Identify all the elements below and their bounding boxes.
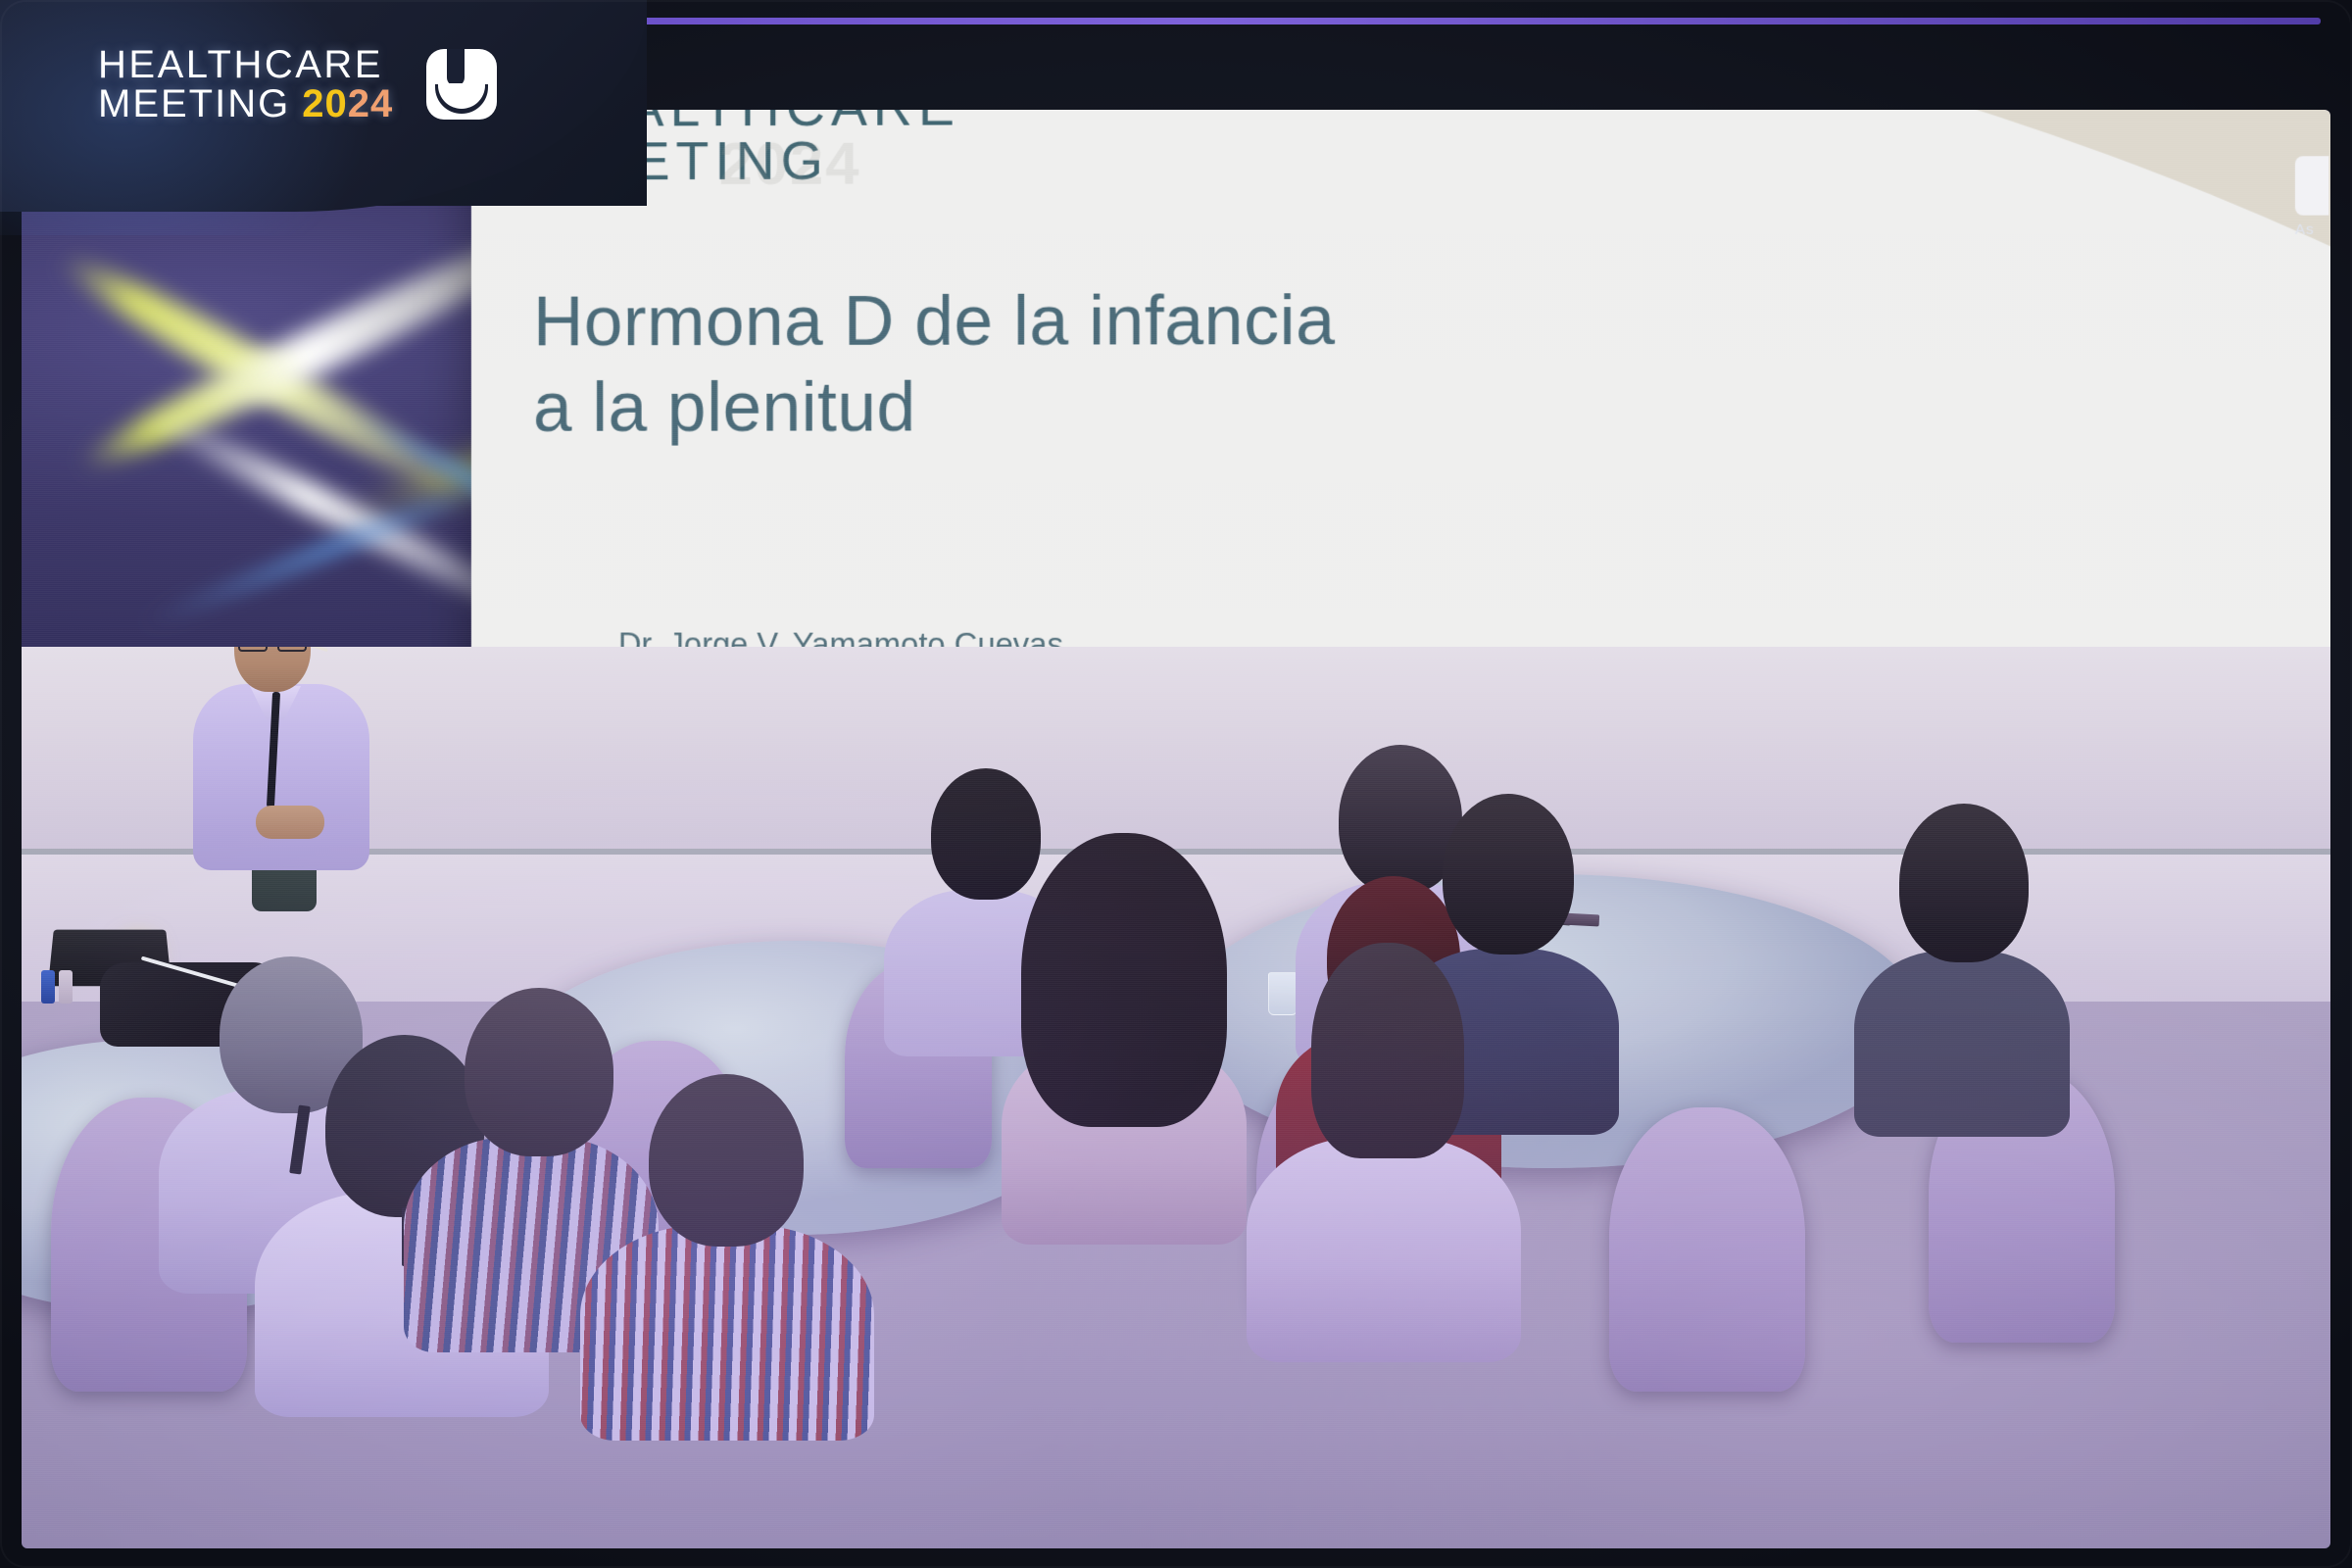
banner-year-first: 20 [302, 82, 348, 125]
banner-line2-word: MEETING [98, 84, 290, 123]
audience-member [1002, 833, 1247, 1225]
audience-member [1854, 804, 2070, 1117]
beverage-can [59, 970, 73, 1004]
event-logo: HEALTHCARE MEETING 2024 [98, 45, 497, 123]
banner-year-second: 24 [348, 82, 394, 125]
slide-title: Hormona D de la infancia a la plenitud [533, 278, 1370, 451]
conference-photo: HEALTHCARE MEETING 2024 Hormona D de la … [22, 110, 2330, 1548]
screenshot-root: HEALTHCARE MEETING 2024 Hormona D de la … [0, 0, 2352, 1568]
presenter [193, 647, 369, 902]
corner-logo-mark [2295, 156, 2328, 216]
slide-corner-logo: As [2295, 156, 2328, 238]
projector-screen-rim [443, 18, 2321, 24]
chair [1609, 1107, 1805, 1392]
beverage-can [41, 970, 55, 1004]
corner-logo-text: As [2295, 221, 2328, 238]
audience-member [1247, 941, 1521, 1352]
audience-member [580, 1068, 874, 1421]
event-banner: HEALTHCARE MEETING 2024 [0, 0, 647, 206]
banner-line1: HEALTHCARE [98, 45, 393, 84]
eyeglasses [238, 647, 309, 652]
healthcare-meeting-logo-mark [426, 49, 497, 120]
slide-brand-year-watermark: 2024 [719, 129, 861, 199]
audience-room [22, 647, 2330, 1548]
